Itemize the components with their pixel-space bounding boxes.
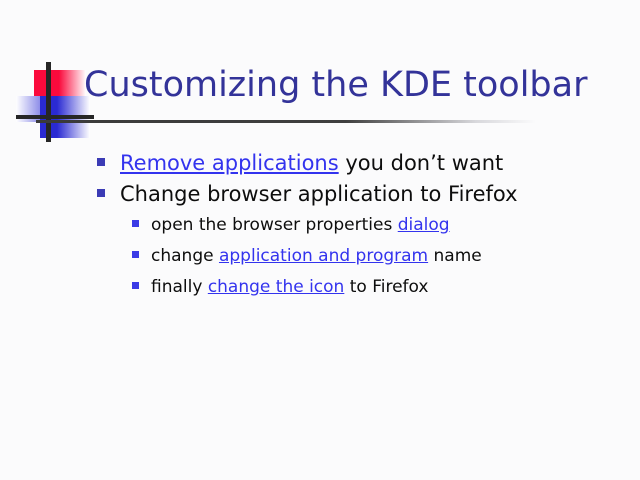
logo-vertical-bar-icon xyxy=(46,62,51,142)
square-bullet-icon xyxy=(132,282,139,289)
hyperlink[interactable]: application and program xyxy=(219,246,428,266)
bullet-item-level1: Change browser application to Firefox xyxy=(0,179,640,210)
hyperlink[interactable]: change the icon xyxy=(208,277,345,297)
title-divider xyxy=(36,120,536,123)
slide-title: Customizing the KDE toolbar xyxy=(84,63,587,107)
bullet-text: open the browser properties dialog xyxy=(151,210,450,241)
hyperlink[interactable]: dialog xyxy=(398,215,450,235)
square-bullet-icon xyxy=(132,251,139,258)
plain-text: finally xyxy=(151,277,208,297)
bullet-text: finally change the icon to Firefox xyxy=(151,272,428,303)
plain-text: change xyxy=(151,246,219,266)
bullet-text: Remove applications you don’t want xyxy=(120,148,503,179)
plain-text: you don’t want xyxy=(339,151,504,175)
slide-body: Remove applications you don’t wantChange… xyxy=(0,148,640,303)
hyperlink[interactable]: Remove applications xyxy=(120,151,339,175)
bullet-text: Change browser application to Firefox xyxy=(120,179,518,210)
plain-text: Change browser application to Firefox xyxy=(120,182,518,206)
decorative-logo xyxy=(16,62,94,142)
bullet-item-level2: finally change the icon to Firefox xyxy=(0,272,640,303)
square-bullet-icon xyxy=(97,189,105,197)
logo-horizontal-bar-icon xyxy=(16,115,94,119)
square-bullet-icon xyxy=(97,158,105,166)
bullet-item-level2: change application and program name xyxy=(0,241,640,272)
square-bullet-icon xyxy=(132,220,139,227)
bullet-item-level2: open the browser properties dialog xyxy=(0,210,640,241)
slide-canvas: Customizing the KDE toolbar Remove appli… xyxy=(0,0,640,480)
bullet-item-level1: Remove applications you don’t want xyxy=(0,148,640,179)
plain-text: open the browser properties xyxy=(151,215,398,235)
bullet-text: change application and program name xyxy=(151,241,482,272)
plain-text: name xyxy=(428,246,482,266)
plain-text: to Firefox xyxy=(344,277,428,297)
